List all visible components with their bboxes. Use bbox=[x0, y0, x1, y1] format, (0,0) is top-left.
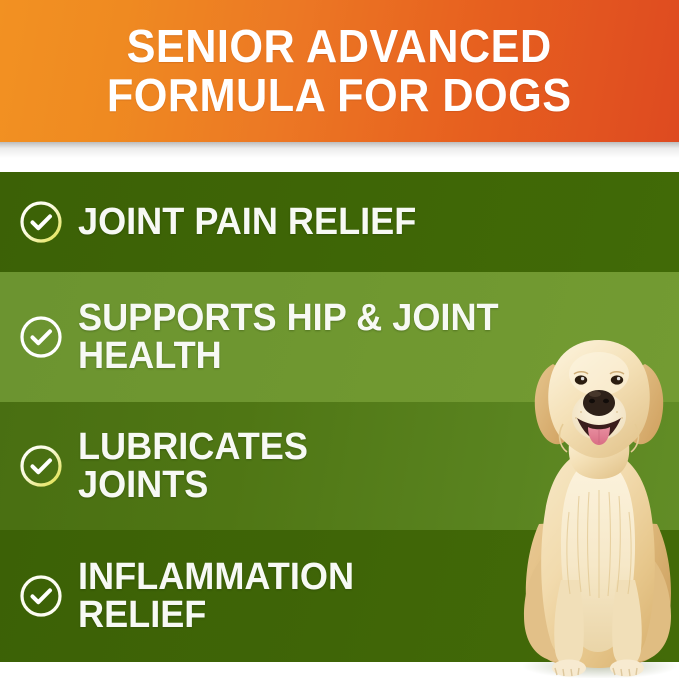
benefit-label: JOINT PAIN RELIEF bbox=[78, 203, 416, 241]
bottom-white-strip bbox=[0, 662, 679, 678]
benefit-band-inflammation-relief: INFLAMMATION RELIEF bbox=[0, 530, 679, 662]
benefit-band-supports-hip-joint-health: SUPPORTS HIP & JOINT HEALTH bbox=[0, 272, 679, 402]
banner-title-line-2: FORMULA FOR DOGS bbox=[107, 73, 572, 118]
benefit-label: SUPPORTS HIP & JOINT HEALTH bbox=[78, 299, 499, 375]
banner-title-line-1: SENIOR ADVANCED bbox=[127, 24, 552, 69]
product-benefits-graphic: SENIOR ADVANCED FORMULA FOR DOGS bbox=[0, 0, 679, 678]
check-circle-icon bbox=[18, 314, 64, 360]
check-circle-icon bbox=[18, 573, 64, 619]
benefit-row: INFLAMMATION RELIEF bbox=[0, 558, 679, 634]
check-circle-icon bbox=[18, 443, 64, 489]
benefit-label: INFLAMMATION RELIEF bbox=[78, 558, 354, 634]
header-banner: SENIOR ADVANCED FORMULA FOR DOGS bbox=[0, 0, 679, 142]
check-circle-icon bbox=[18, 199, 64, 245]
benefit-row: LUBRICATES JOINTS bbox=[0, 428, 679, 504]
benefit-band-lubricates-joints: LUBRICATES JOINTS bbox=[0, 402, 679, 530]
benefit-row: JOINT PAIN RELIEF bbox=[0, 199, 679, 245]
benefit-label: LUBRICATES JOINTS bbox=[78, 428, 308, 504]
benefit-band-joint-pain-relief: JOINT PAIN RELIEF bbox=[0, 172, 679, 272]
benefit-row: SUPPORTS HIP & JOINT HEALTH bbox=[0, 299, 679, 375]
benefits-list: JOINT PAIN RELIEF SUPPORTS HIP & JOINT H… bbox=[0, 172, 679, 662]
banner-drop-shadow bbox=[0, 142, 679, 158]
